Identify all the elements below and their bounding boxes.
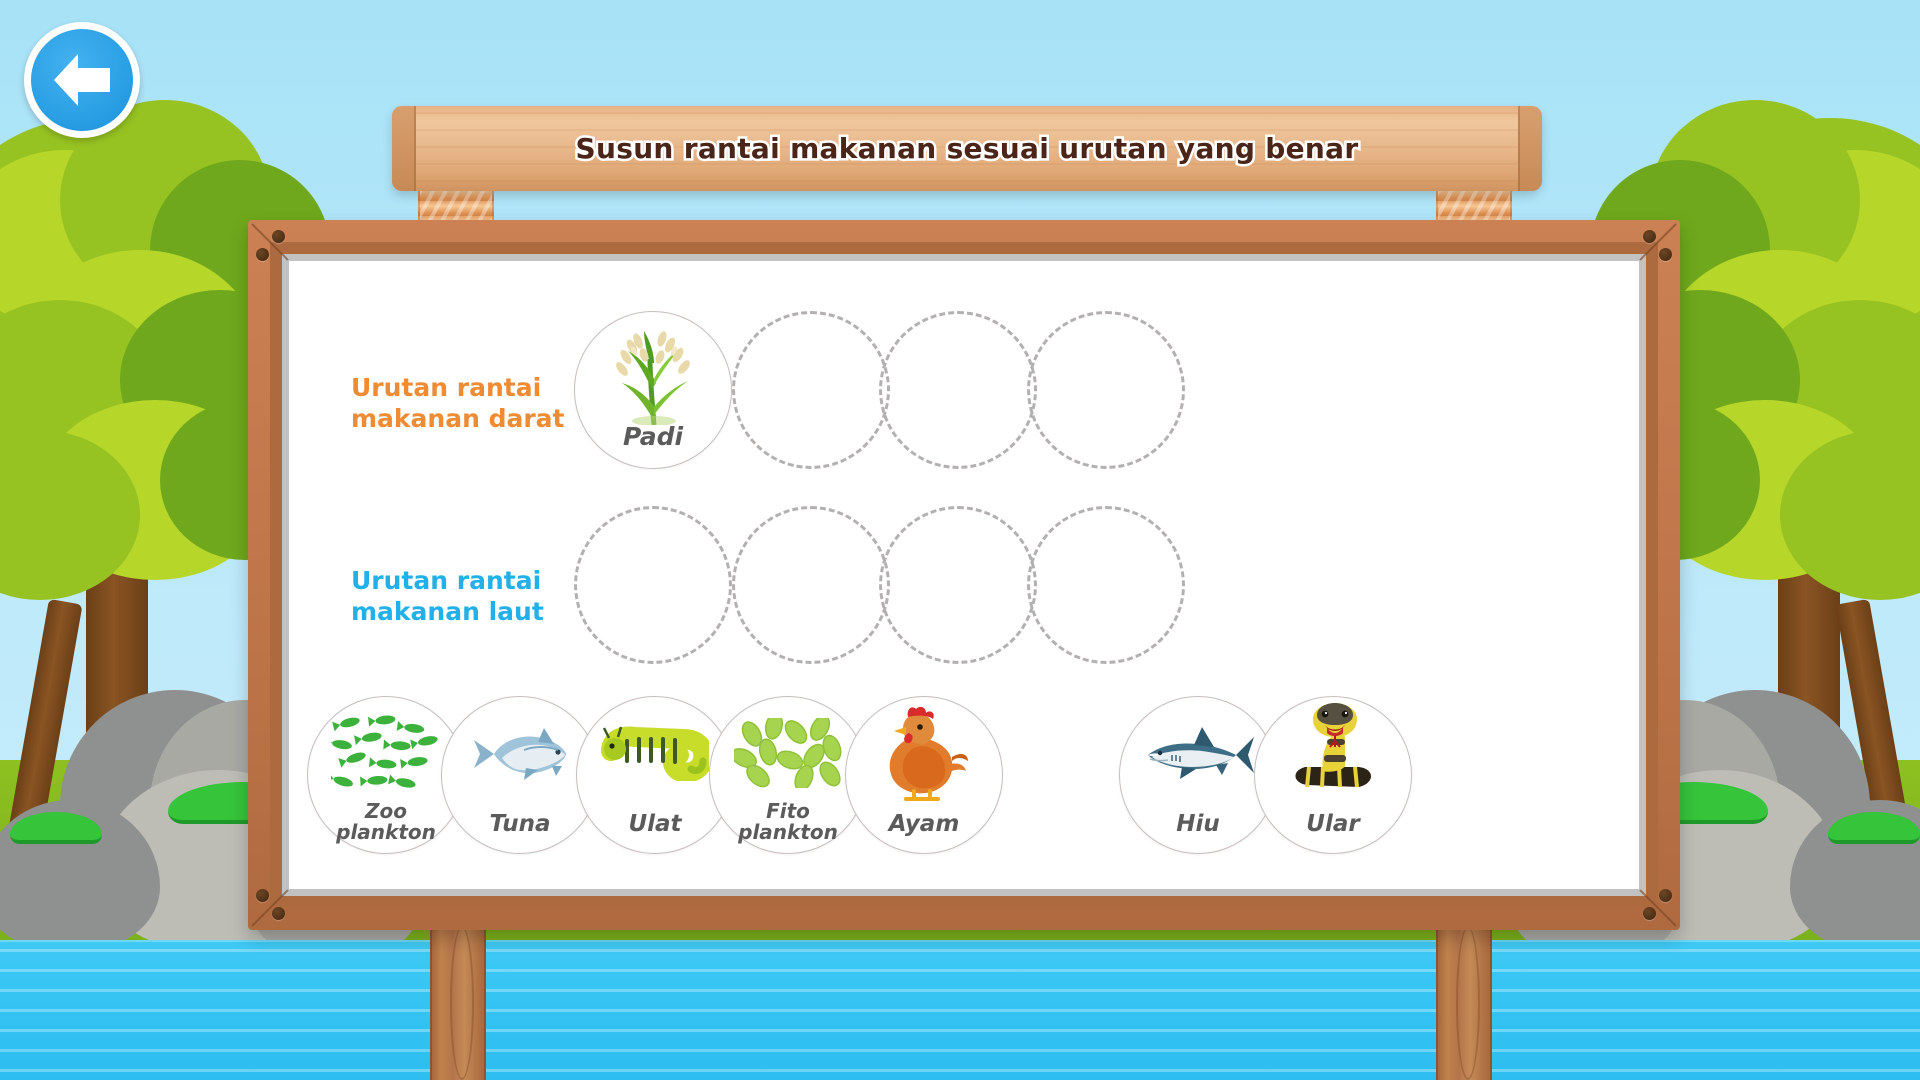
board-screw-bl-a — [272, 907, 285, 920]
board-screw-tl-b — [256, 248, 269, 261]
tray-token-ayam[interactable]: Ayam — [845, 696, 1003, 854]
row-label-laut-line1: Urutan rantai — [351, 566, 611, 597]
tray-token-ular[interactable]: Ular — [1254, 696, 1412, 854]
chicken-icon — [846, 709, 1002, 797]
shark-icon — [1120, 709, 1276, 797]
puzzle-content: Urutan rantai makanan darat — [289, 261, 1639, 889]
slot-darat-2[interactable] — [879, 311, 1037, 469]
row-label-laut: Urutan rantai makanan laut — [351, 566, 611, 627]
slot-laut-3[interactable] — [1027, 506, 1185, 664]
slot-laut-0[interactable] — [574, 506, 732, 664]
board-face: Urutan rantai makanan darat — [289, 261, 1639, 889]
page-title: Susun rantai makanan sesuai urutan yang … — [392, 106, 1542, 191]
token-label: Hiu — [1120, 813, 1276, 837]
board-screw-br-a — [1643, 907, 1656, 920]
water-layer — [0, 942, 1920, 1080]
row-label-darat-line2: makanan darat — [351, 404, 611, 435]
slot-laut-2[interactable] — [879, 506, 1037, 664]
board-screw-bl-b — [256, 889, 269, 902]
token-label: Zoo plankton — [308, 801, 464, 843]
row-label-darat-line1: Urutan rantai — [351, 373, 611, 404]
game-board: Urutan rantai makanan darat — [248, 220, 1680, 930]
token-label: Fito plankton — [710, 801, 866, 843]
board-screw-br-b — [1659, 889, 1672, 902]
board-screw-tl-a — [272, 230, 285, 243]
slot-darat-1[interactable] — [732, 311, 890, 469]
row-label-darat: Urutan rantai makanan darat — [351, 373, 611, 434]
cobra-snake-icon — [1255, 709, 1411, 797]
slot-darat-3[interactable] — [1027, 311, 1185, 469]
rice-plant-icon — [575, 328, 731, 426]
token-label: Tuna — [442, 813, 598, 837]
phytoplankton-icon — [710, 709, 866, 797]
title-banner: Susun rantai makanan sesuai urutan yang … — [392, 106, 1542, 191]
back-button[interactable] — [24, 22, 140, 138]
tuna-fish-icon — [442, 709, 598, 797]
token-label: Ular — [1255, 813, 1411, 837]
board-screw-tr-a — [1643, 230, 1656, 243]
token-label: Padi — [575, 424, 731, 450]
tray-token-fitoplankton[interactable]: Fito plankton — [709, 696, 867, 854]
slot-laut-1[interactable] — [732, 506, 890, 664]
placed-token-padi[interactable]: Padi — [574, 311, 732, 469]
board-screw-tr-b — [1659, 248, 1672, 261]
back-arrow-icon — [48, 50, 116, 110]
token-label: Ayam — [846, 813, 1002, 837]
row-label-laut-line2: makanan laut — [351, 597, 611, 628]
